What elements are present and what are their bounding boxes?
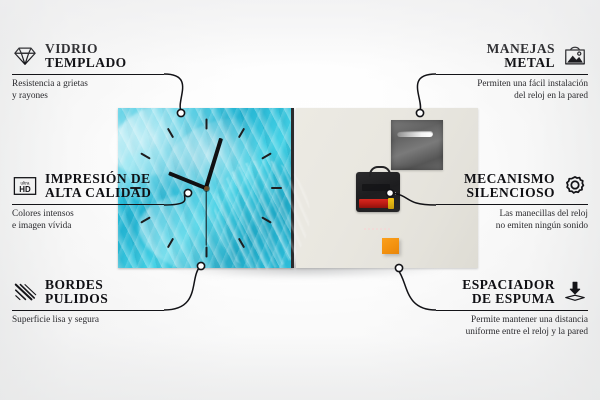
mechanism-hanging-loop (369, 166, 391, 177)
polished-edges-icon (12, 280, 38, 304)
connector-dot-mecanismo (386, 189, 393, 196)
callout-impresion-alta-calidad: ultra HD IMPRESIÓN DE ALTA CALIDAD Color… (12, 172, 164, 233)
clock-tick (140, 216, 151, 223)
connector-dot-bordes (197, 262, 204, 269)
callout-header: BORDES PULIDOS (12, 278, 164, 307)
callout-connectors (0, 0, 600, 400)
callout-title: VIDRIO TEMPLADO (45, 42, 127, 71)
callout-divider (436, 204, 588, 205)
feather-highlight (214, 160, 310, 270)
callout-espaciador-de-espuma: ESPACIADOR DE ESPUMA Permite mantener un… (436, 278, 588, 339)
connector-line-impresion (164, 193, 186, 205)
callout-header: MANEJAS METAL (436, 42, 588, 71)
callout-vidrio-templado: VIDRIO TEMPLADO Resistencia a grietas y … (12, 42, 164, 103)
callout-header: ESPACIADOR DE ESPUMA (436, 278, 588, 307)
callout-title: ESPACIADOR DE ESPUMA (462, 278, 555, 307)
ultra-hd-icon: ultra HD (12, 174, 38, 198)
feather-highlight (164, 118, 314, 238)
callout-title: IMPRESIÓN DE ALTA CALIDAD (45, 172, 151, 201)
feather-highlight (118, 148, 198, 204)
second-hand (205, 188, 206, 246)
connector-line-vidrio-templado (164, 74, 183, 111)
svg-text:HD: HD (19, 185, 31, 194)
callout-bordes-pulidos: BORDES PULIDOS Superficie lisa y segura (12, 278, 164, 326)
clock-tick (167, 127, 174, 138)
callout-description: Resistencia a grietas y rayones (12, 78, 164, 103)
callout-description: Permiten una fácil instalación del reloj… (436, 78, 588, 103)
feather-highlight (100, 85, 236, 189)
clock-tick (205, 247, 207, 258)
callout-description: Superficie lisa y segura (12, 314, 164, 326)
clock-tick (262, 152, 273, 159)
clock-center-cap (204, 186, 209, 191)
clock-back-panel (296, 108, 478, 268)
callout-description: Permite mantener una distancia uniforme … (436, 314, 588, 339)
infographic-canvas: VIDRIO TEMPLADO Resistencia a grietas y … (0, 0, 600, 400)
callout-header: VIDRIO TEMPLADO (12, 42, 164, 71)
callout-divider (12, 310, 164, 311)
callout-divider (436, 74, 588, 75)
connector-dot-impresion (184, 189, 191, 196)
svg-text:ultra: ultra (21, 181, 30, 186)
connector-dot-espaciador (395, 264, 402, 271)
callout-divider (12, 204, 164, 205)
callout-description: Colores intensos e imagen vívida (12, 208, 164, 233)
callout-divider (436, 310, 588, 311)
connector-line-espaciador (398, 270, 436, 310)
battery (359, 199, 393, 208)
foam-spacer-icon (562, 280, 588, 304)
diamond-icon (12, 44, 38, 68)
clock-tick (205, 119, 207, 130)
callout-title: MANEJAS METAL (487, 42, 555, 71)
clock-tick (238, 127, 245, 138)
picture-hanger-icon (562, 44, 588, 68)
gear-icon (562, 174, 588, 198)
clock-tick (238, 238, 245, 249)
connector-dot-manejas (416, 109, 423, 116)
callout-header: MECANISMO SILENCIOSO (436, 172, 588, 201)
connector-dot-vidrio-templado (177, 109, 184, 116)
callout-mecanismo-silencioso: MECANISMO SILENCIOSO Las manecillas del … (436, 172, 588, 233)
hour-hand (168, 171, 207, 190)
feather-highlight (132, 181, 313, 293)
mechanism-body-detail (362, 184, 390, 191)
clock-tick (140, 152, 151, 159)
connector-line-manejas (417, 74, 436, 111)
metal-hanger-plate (391, 120, 443, 170)
connector-line-mecanismo (392, 193, 436, 205)
hanger-slot (397, 131, 433, 137)
clock-tick (271, 187, 282, 189)
minute-hand (204, 138, 223, 189)
callout-title: BORDES PULIDOS (45, 278, 108, 307)
callout-divider (12, 74, 164, 75)
clock-tick (130, 187, 141, 189)
clock-mechanism (356, 172, 400, 212)
clock-tick (262, 216, 273, 223)
callout-description: Las manecillas del reloj no emiten ningú… (436, 208, 588, 233)
clock-tick (167, 238, 174, 249)
battery-label (364, 228, 390, 230)
callout-manejas-metal: MANEJAS METAL Permiten una fácil instala… (436, 42, 588, 103)
battery-terminal (388, 198, 394, 209)
product-image (118, 108, 488, 276)
callout-header: ultra HD IMPRESIÓN DE ALTA CALIDAD (12, 172, 164, 201)
connector-line-bordes (164, 268, 199, 310)
foam-spacer (382, 238, 399, 254)
callout-title: MECANISMO SILENCIOSO (464, 172, 555, 201)
product-shadow (124, 258, 484, 284)
mechanism-label-detail (389, 192, 396, 195)
clock-face (118, 108, 294, 268)
